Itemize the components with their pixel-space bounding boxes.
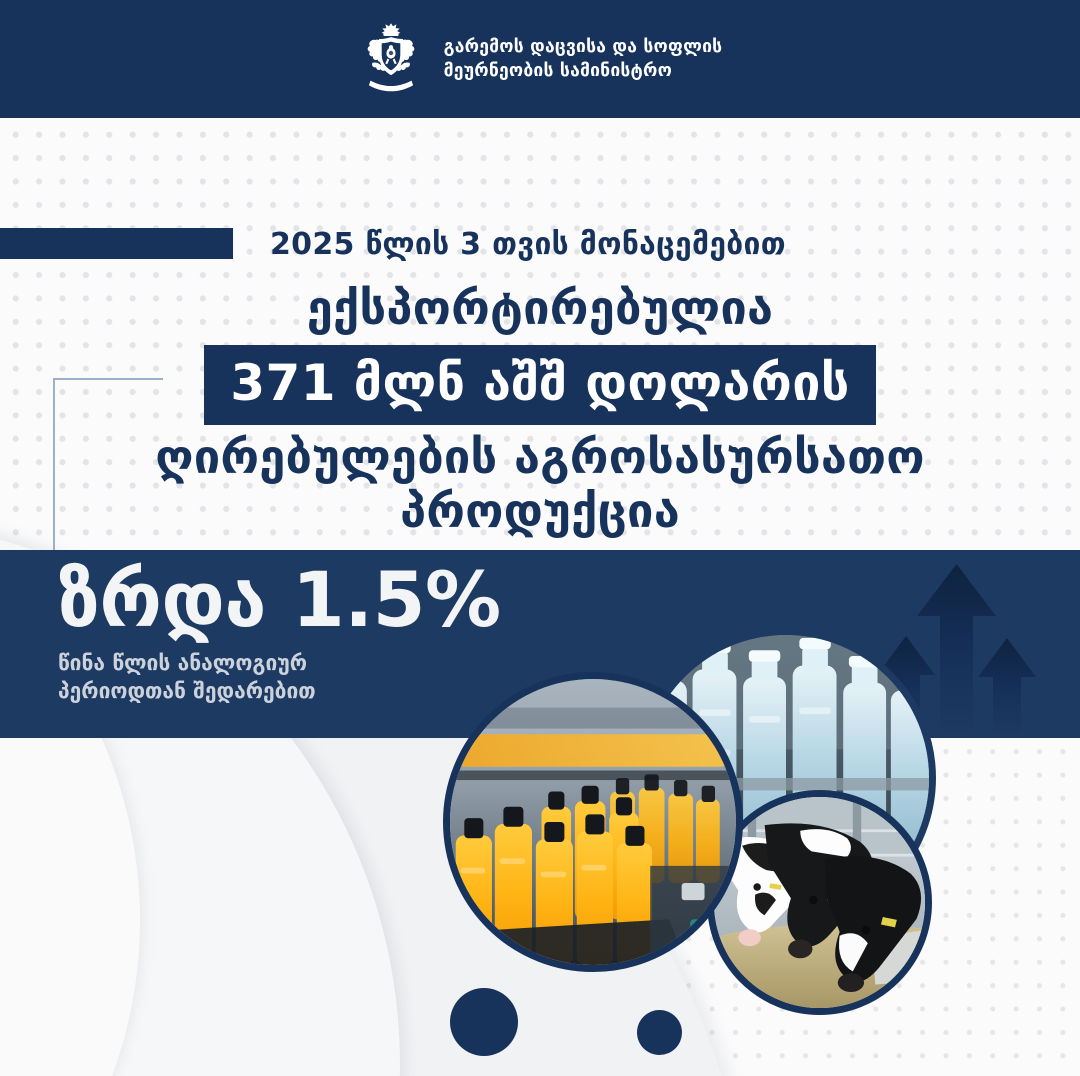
growth-headline: ზრდა 1.5% (58, 562, 501, 638)
decorative-dot-large (450, 988, 518, 1056)
growth-note-line2: პერიოდთან შედარებით (58, 678, 501, 706)
growth-note: წინა წლის ანალოგიურ პერიოდთან შედარებით (58, 650, 501, 705)
ministry-name-line1: გარემოს დაცვისა და სოფლის (444, 35, 723, 59)
headline-line-2: ღირებულების აგროსასურსათო (0, 431, 1080, 486)
accent-bar (0, 228, 233, 259)
eyebrow-period-label: 2025 წლის 3 თვის მონაცემებით (270, 227, 970, 262)
growth-note-line1: წინა წლის ანალოგიურ (58, 650, 501, 678)
headline-block: ექსპორტირებულია 371 მლნ აშშ დოლარის ღირე… (0, 282, 1080, 540)
ministry-name-line2: მეურნეობის სამინისტრო (444, 59, 723, 83)
georgia-coat-of-arms-icon (358, 20, 424, 98)
ministry-name: გარემოს დაცვისა და სოფლის მეურნეობის სამ… (444, 35, 723, 83)
headline-line-3: პროდუქცია (0, 485, 1080, 540)
ministry-header: გარემოს დაცვისა და სოფლის მეურნეობის სამ… (0, 0, 1080, 118)
decorative-dot-small (637, 1010, 682, 1055)
headline-highlight-value: 371 მლნ აშშ დოლარის (204, 345, 875, 425)
growth-figure-group: ზრდა 1.5% წინა წლის ანალოგიურ პერიოდთან … (58, 562, 501, 705)
headline-line-1: ექსპორტირებულია (0, 282, 1080, 337)
infographic-poster: გარემოს დაცვისა და სოფლის მეურნეობის სამ… (0, 0, 1080, 1076)
juice-bottling-line-photo (443, 672, 743, 972)
